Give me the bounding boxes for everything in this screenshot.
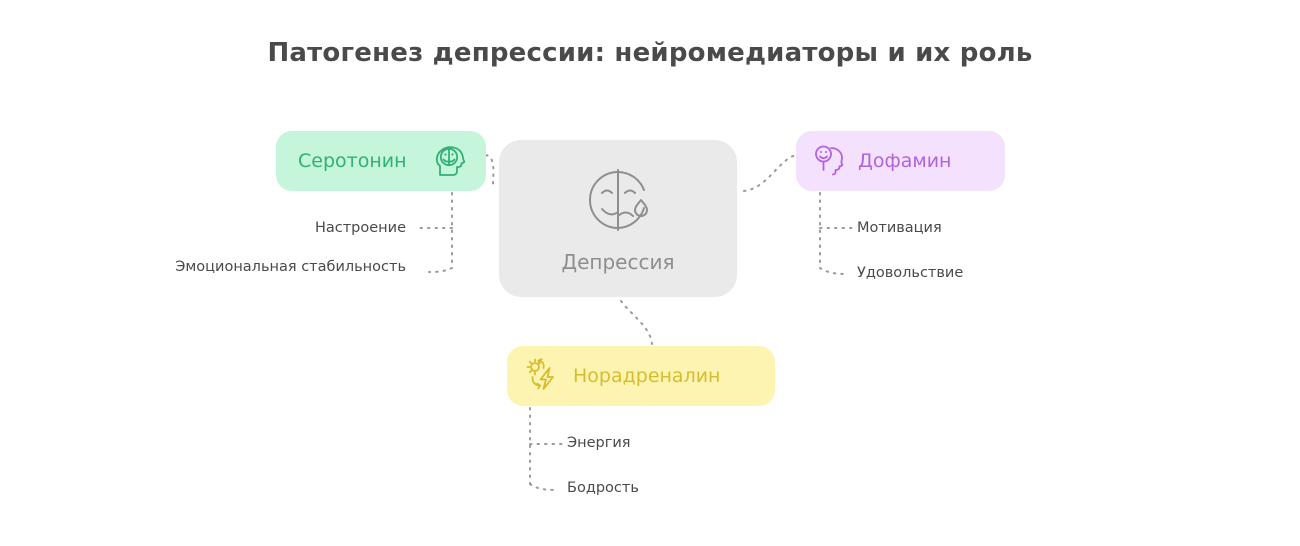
connector-noradrenaline-sub-2 — [530, 484, 557, 490]
connector-serotonin-sub-2 — [429, 268, 452, 272]
sublabel-noradrenaline-vigour: Бодрость — [567, 480, 639, 496]
node-dopamine-label: Дофамин — [858, 150, 951, 172]
connector-center-noradrenaline — [621, 301, 652, 344]
sublabel-dopamine-motivation: Мотивация — [857, 220, 942, 236]
node-serotonin-label: Серотонин — [298, 150, 407, 172]
node-dopamine[interactable]: Дофамин — [796, 131, 1005, 191]
connector-center-dopamine — [744, 155, 796, 191]
connector-serotonin-center — [486, 155, 493, 186]
node-depression-label: Депрессия — [561, 250, 674, 274]
page-title: Патогенез депрессии: нейромедиаторы и их… — [0, 38, 1300, 68]
node-serotonin[interactable]: Серотонин — [276, 131, 486, 191]
sublabel-serotonin-mood: Настроение — [315, 220, 406, 236]
sun-lightning-bolt-arrows-icon — [523, 356, 563, 396]
node-depression[interactable]: Депрессия — [499, 140, 737, 297]
connector-dopamine-sub-2 — [820, 268, 846, 274]
node-noradrenaline-label: Норадреналин — [573, 365, 720, 387]
sublabel-serotonin-emotional-stability: Эмоциональная стабильность — [175, 259, 406, 275]
head-profile-with-smiley-icon — [812, 143, 848, 179]
sublabel-noradrenaline-energy: Энергия — [567, 435, 631, 451]
diagram-canvas: Патогенез депрессии: нейромедиаторы и их… — [0, 0, 1300, 546]
sublabel-dopamine-pleasure: Удовольствие — [857, 265, 963, 281]
node-noradrenaline[interactable]: Норадреналин — [507, 346, 775, 406]
head-profile-with-face-circle-icon — [432, 143, 468, 179]
half-happy-half-sad-face-with-tear-icon — [582, 164, 654, 236]
